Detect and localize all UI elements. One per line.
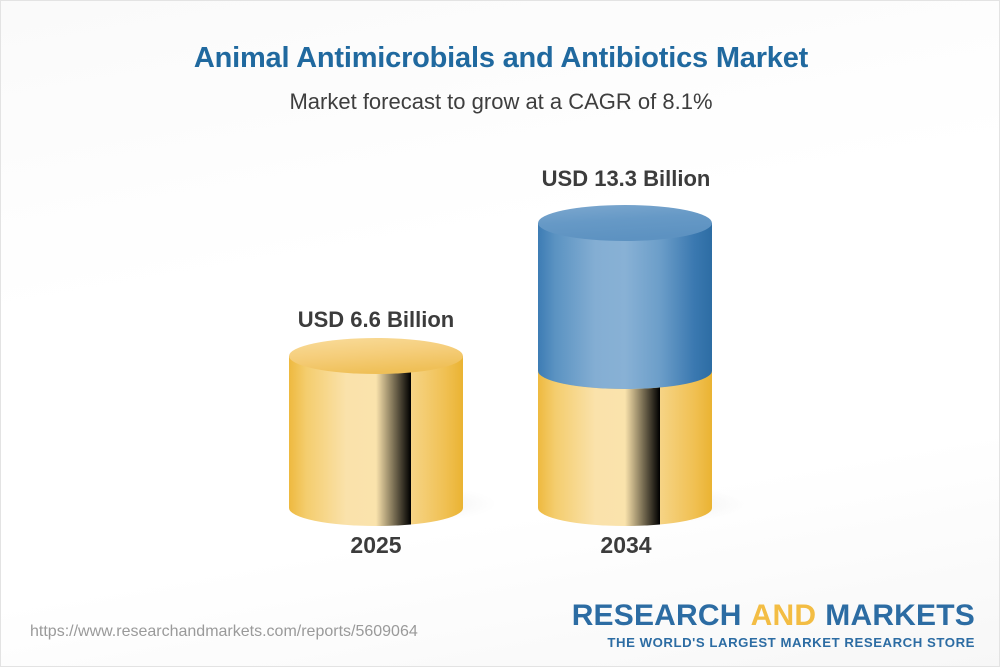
report-url[interactable]: https://www.researchandmarkets.com/repor… bbox=[30, 623, 418, 641]
bar-2034-top-cap bbox=[538, 205, 712, 241]
infographic-canvas: Animal Antimicrobials and Antibiotics Ma… bbox=[0, 0, 1000, 667]
bar-2034-growth-segment bbox=[538, 223, 712, 389]
research-and-markets-logo[interactable]: RESEARCHANDMARKETS THE WORLD'S LARGEST M… bbox=[572, 601, 975, 649]
value-label-2025: USD 6.6 Billion bbox=[276, 307, 476, 333]
logo-tagline: THE WORLD'S LARGEST MARKET RESEARCH STOR… bbox=[572, 636, 975, 649]
category-label-2034: 2034 bbox=[526, 532, 726, 559]
logo-word-and: AND bbox=[751, 599, 817, 632]
bar-2025-top-cap bbox=[289, 338, 463, 374]
logo-word-markets: MARKETS bbox=[825, 599, 975, 632]
chart-plot-area bbox=[1, 1, 1000, 667]
value-label-2034: USD 13.3 Billion bbox=[526, 166, 726, 192]
cylinder-bar-chart bbox=[1, 1, 1000, 667]
bar-2025 bbox=[289, 338, 497, 526]
logo-word-research: RESEARCH bbox=[572, 599, 742, 632]
bar-2034-base-segment bbox=[538, 371, 712, 526]
bar-2025-body bbox=[289, 356, 463, 526]
logo-wordmark: RESEARCHANDMARKETS bbox=[572, 601, 975, 631]
category-label-2025: 2025 bbox=[276, 532, 476, 559]
bar-2034 bbox=[538, 205, 747, 526]
